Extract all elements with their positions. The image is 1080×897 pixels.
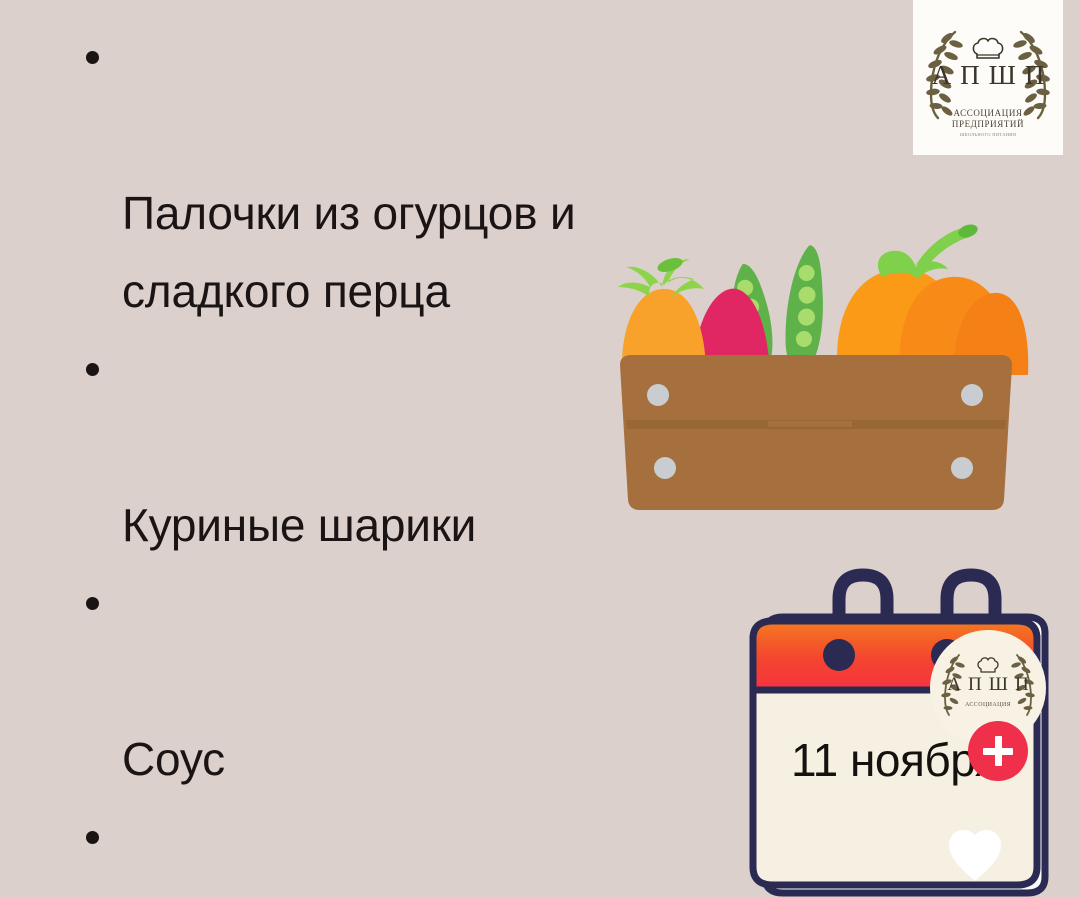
vegetable-crate-illustration	[600, 215, 1030, 515]
screw-icon	[647, 384, 669, 406]
bullet-icon	[86, 363, 99, 376]
logo-subtitle-line1: АССОЦИАЦИЯ	[913, 108, 1063, 118]
logo-subtitle-line2: ПРЕДПРИЯТИЙ	[913, 119, 1063, 129]
badge-letters: АПШП	[930, 674, 1046, 696]
calendar-date-label: 11 ноября	[791, 733, 999, 787]
association-logo: АПШП АССОЦИАЦИЯ ПРЕДПРИЯТИЙ ШКОЛЬНОГО ПИ…	[913, 0, 1063, 155]
bullet-icon	[86, 831, 99, 844]
badge-subtitle: АССОЦИАЦИЯ	[930, 702, 1046, 708]
wooden-crate-icon	[620, 355, 1012, 510]
menu-item-list: Палочки из огурцов и сладкого перца Кури…	[78, 18, 678, 897]
list-item: Соус	[78, 564, 678, 798]
pepper-orange-icon	[837, 222, 1028, 375]
poster-canvas: Палочки из огурцов и сладкого перца Кури…	[0, 0, 1080, 897]
bullet-icon	[86, 51, 99, 64]
plus-icon-vertical	[995, 736, 1002, 766]
chef-hat-icon	[971, 36, 1005, 62]
screw-icon	[654, 457, 676, 479]
screw-icon	[961, 384, 983, 406]
add-button[interactable]	[968, 721, 1028, 781]
list-item: Палочки из огурцов и сладкого перца	[78, 18, 678, 330]
list-item-label: Куриные шарики	[122, 499, 476, 551]
screw-icon	[951, 457, 973, 479]
list-item: Куриные шарики	[78, 330, 678, 564]
logo-letters: АПШП	[913, 60, 1063, 91]
list-item-label: Палочки из огурцов и сладкого перца	[122, 187, 575, 317]
bullet-icon	[86, 597, 99, 610]
calendar-illustration: АПШП АССОЦИАЦИЯ 11 ноября	[735, 555, 1065, 897]
badge-chef-hat-icon	[976, 656, 1000, 674]
list-item-label: Соус	[122, 733, 225, 785]
logo-subtitle-line3: ШКОЛЬНОГО ПИТАНИЯ	[913, 132, 1063, 137]
list-item: Гарнир: гречка рассыпчатая	[78, 798, 678, 897]
